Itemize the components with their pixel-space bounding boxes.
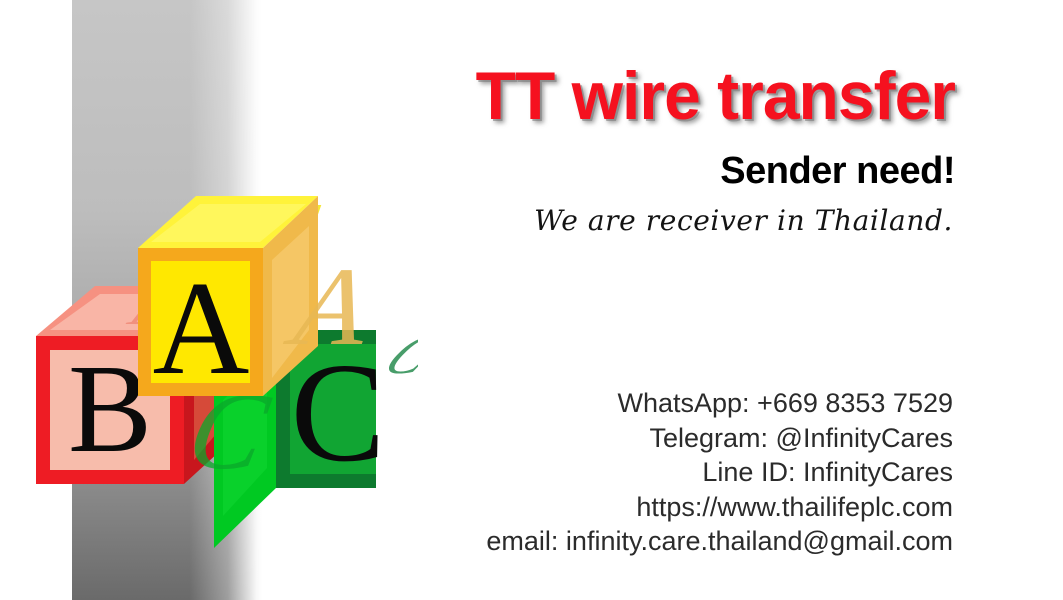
contact-item-email[interactable]: email: infinity.care.thailand@gmail.com bbox=[253, 524, 953, 559]
contact-item-line: Line ID: InfinityCares bbox=[253, 455, 953, 490]
contact-item-telegram: Telegram: @InfinityCares bbox=[253, 421, 953, 456]
page-title: TT wire transfer bbox=[276, 62, 955, 130]
subheading: Sender need! bbox=[255, 152, 955, 190]
contact-item-whatsapp: WhatsApp: +669 8353 7529 bbox=[253, 386, 953, 421]
tagline: We are receiver in Thailand. bbox=[253, 204, 953, 238]
promo-banner: B B C C C bbox=[0, 0, 1063, 600]
contact-list: WhatsApp: +669 8353 7529 Telegram: @Infi… bbox=[253, 386, 953, 559]
contact-item-website[interactable]: https://www.thailifeplc.com bbox=[253, 490, 953, 525]
svg-text:A: A bbox=[153, 254, 250, 402]
